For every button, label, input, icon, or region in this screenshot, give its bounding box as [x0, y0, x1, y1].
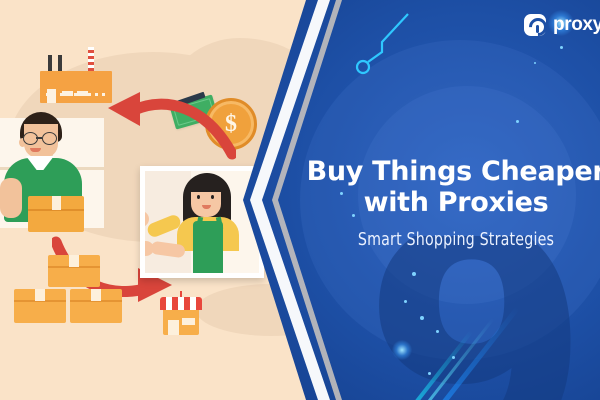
factory-window — [77, 91, 88, 96]
factory-window — [62, 91, 73, 96]
arrow-up-left-icon — [96, 92, 236, 162]
woman-shopper — [167, 173, 251, 273]
shop-body — [163, 310, 199, 335]
sparkle-dot — [436, 330, 439, 333]
circuit-trace-icon — [352, 12, 412, 76]
parcel-box — [14, 289, 66, 323]
shopper-screen-frame — [140, 166, 264, 278]
headline-line-2: with Proxies — [306, 187, 600, 218]
parcel-box — [48, 255, 100, 287]
glow-dot — [392, 340, 412, 360]
sparkle-dot — [452, 356, 455, 359]
banner-canvas: $ $ — [0, 0, 600, 400]
man-with-parcel — [2, 112, 94, 227]
parcel-box — [70, 289, 122, 323]
proxy-pin-logo-icon — [524, 14, 546, 36]
man-arm — [0, 178, 22, 218]
sparkle-dot — [404, 300, 407, 303]
headline-line-1: Buy Things Cheaper — [306, 156, 600, 187]
glasses-lens — [42, 132, 57, 145]
sparkle-dot — [516, 120, 519, 123]
sparkle-dot — [412, 272, 416, 276]
sparkle-dot — [420, 316, 424, 320]
shop-window — [182, 318, 195, 325]
sparkle-dot — [428, 372, 431, 375]
shop-awning — [160, 297, 202, 310]
headline-subtitle: Smart Shopping Strategies — [324, 229, 588, 250]
sparkle-dot — [534, 62, 536, 64]
brand-logo[interactable]: proxy — [524, 14, 600, 36]
woman-eye — [197, 195, 200, 199]
cardboard-boxes — [8, 255, 128, 327]
held-parcel — [28, 196, 84, 232]
factory-door — [47, 89, 56, 103]
shop-front-icon — [160, 295, 202, 335]
sparkle-dot — [560, 46, 563, 49]
woman-eye — [211, 195, 214, 199]
shopper-screen — [145, 171, 259, 273]
shop-door — [168, 320, 179, 335]
brand-logo-text: proxy — [553, 14, 600, 36]
factory-striped-pipe — [88, 47, 94, 73]
woman-fringe — [187, 179, 225, 192]
headline-block: Buy Things Cheaper with Proxies Smart Sh… — [306, 156, 600, 250]
brand-watermark-9: 9 — [362, 236, 592, 400]
man-glasses-icon — [22, 132, 60, 143]
woman-green-apron — [193, 221, 223, 273]
